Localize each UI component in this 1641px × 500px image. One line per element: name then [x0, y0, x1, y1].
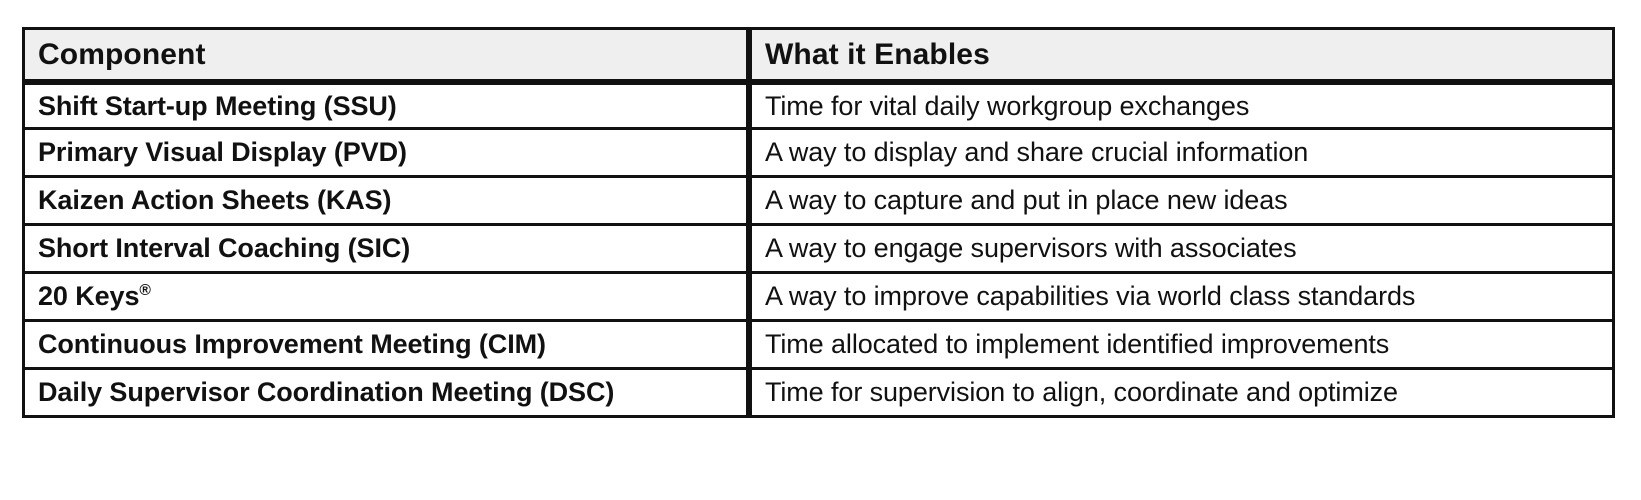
- cell-what-it-enables: Time for vital daily workgroup exchanges: [749, 82, 1615, 130]
- enables-label: A way to improve capabilities via world …: [765, 281, 1415, 311]
- component-label: Kaizen Action Sheets (KAS): [38, 185, 391, 215]
- table-body: Shift Start-up Meeting (SSU)Time for vit…: [22, 82, 1615, 418]
- registered-trademark-mark: ®: [139, 282, 150, 299]
- table-row: Continuous Improvement Meeting (CIM)Time…: [22, 322, 1615, 370]
- component-label: Primary Visual Display (PVD): [38, 137, 407, 167]
- component-label: Daily Supervisor Coordination Meeting (D…: [38, 377, 614, 407]
- table-row: Shift Start-up Meeting (SSU)Time for vit…: [22, 82, 1615, 130]
- component-label: Short Interval Coaching (SIC): [38, 233, 410, 263]
- cell-what-it-enables: A way to engage supervisors with associa…: [749, 226, 1615, 274]
- cell-what-it-enables: A way to display and share crucial infor…: [749, 130, 1615, 178]
- cell-component: 20 Keys®: [22, 274, 749, 322]
- cell-what-it-enables: A way to capture and put in place new id…: [749, 178, 1615, 226]
- page-root: Component What it Enables Shift Start-up…: [0, 0, 1641, 500]
- cell-what-it-enables: A way to improve capabilities via world …: [749, 274, 1615, 322]
- table-row: Daily Supervisor Coordination Meeting (D…: [22, 370, 1615, 418]
- cell-what-it-enables: Time for supervision to align, coordinat…: [749, 370, 1615, 418]
- component-label: Shift Start-up Meeting (SSU): [38, 91, 397, 121]
- component-enables-table-wrapper: Component What it Enables Shift Start-up…: [22, 27, 1615, 418]
- table-header-row: Component What it Enables: [22, 27, 1615, 82]
- enables-label: Time for supervision to align, coordinat…: [765, 377, 1398, 407]
- enables-label: A way to capture and put in place new id…: [765, 185, 1288, 215]
- table-row: 20 Keys®A way to improve capabilities vi…: [22, 274, 1615, 322]
- enables-label: Time for vital daily workgroup exchanges: [765, 91, 1249, 121]
- table-row: Kaizen Action Sheets (KAS)A way to captu…: [22, 178, 1615, 226]
- table-header: Component What it Enables: [22, 27, 1615, 82]
- cell-component: Short Interval Coaching (SIC): [22, 226, 749, 274]
- cell-component: Primary Visual Display (PVD): [22, 130, 749, 178]
- enables-label: A way to display and share crucial infor…: [765, 137, 1308, 167]
- enables-label: A way to engage supervisors with associa…: [765, 233, 1296, 263]
- cell-component: Daily Supervisor Coordination Meeting (D…: [22, 370, 749, 418]
- column-header-what-it-enables: What it Enables: [749, 27, 1615, 82]
- component-enables-table: Component What it Enables Shift Start-up…: [22, 27, 1615, 418]
- cell-component: Kaizen Action Sheets (KAS): [22, 178, 749, 226]
- column-header-component: Component: [22, 27, 749, 82]
- cell-what-it-enables: Time allocated to implement identified i…: [749, 322, 1615, 370]
- cell-component: Shift Start-up Meeting (SSU): [22, 82, 749, 130]
- enables-label: Time allocated to implement identified i…: [765, 329, 1389, 359]
- table-row: Short Interval Coaching (SIC)A way to en…: [22, 226, 1615, 274]
- component-label: Continuous Improvement Meeting (CIM): [38, 329, 546, 359]
- cell-component: Continuous Improvement Meeting (CIM): [22, 322, 749, 370]
- table-row: Primary Visual Display (PVD)A way to dis…: [22, 130, 1615, 178]
- component-label: 20 Keys: [38, 281, 139, 311]
